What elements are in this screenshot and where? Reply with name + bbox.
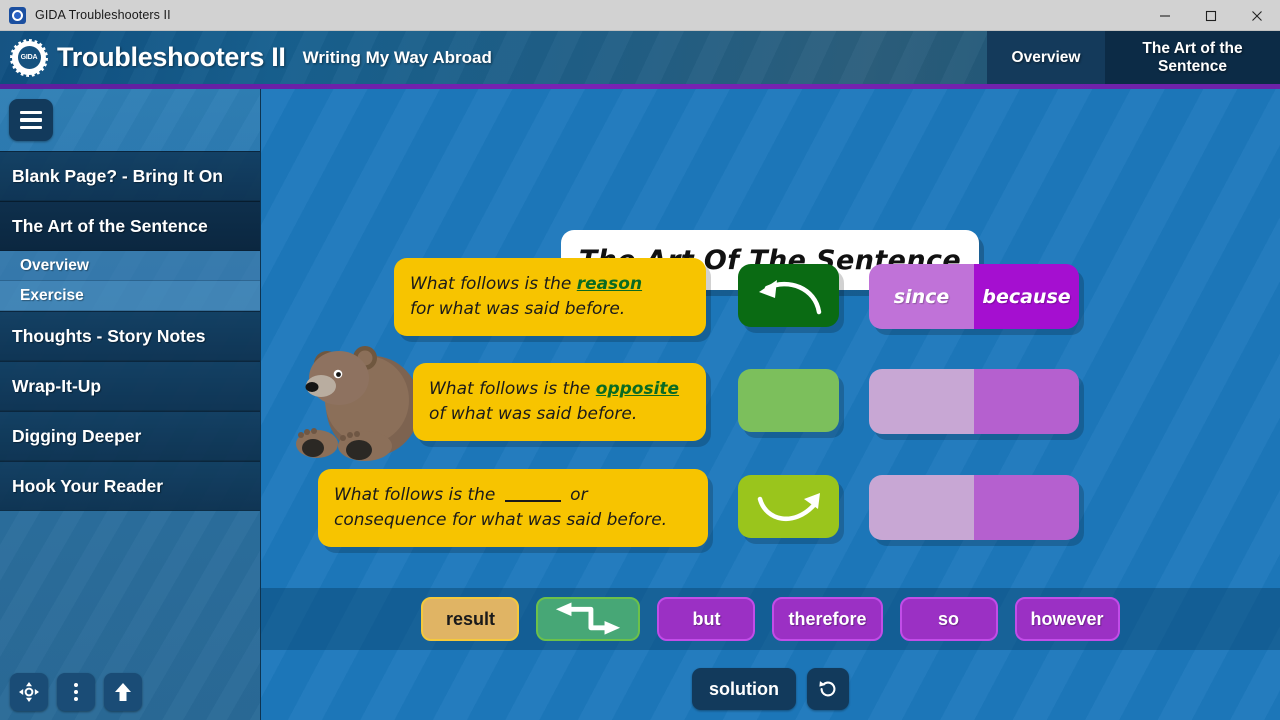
statement-card-3[interactable]: What follows is the or consequence for w… — [318, 469, 708, 547]
statement-text: What follows is the — [334, 485, 501, 505]
window-controls — [1142, 0, 1280, 31]
statement-line-3a: What follows is the or — [334, 483, 692, 508]
sidebar-item-thoughts-story-notes[interactable]: Thoughts - Story Notes — [0, 311, 260, 361]
sidebar-header — [0, 89, 260, 151]
connector-pair-1[interactable]: since because — [869, 264, 1079, 329]
connector-word-left[interactable] — [869, 475, 974, 540]
statement-line-3b: consequence for what was said before. — [334, 508, 692, 533]
statement-text: What follows is the — [429, 379, 596, 399]
curved-arrow-right-icon — [752, 485, 826, 529]
sidebar-item-wrap-it-up[interactable]: Wrap-It-Up — [0, 361, 260, 411]
maximize-icon[interactable] — [1188, 0, 1234, 31]
arrow-slot-3[interactable] — [738, 475, 839, 538]
sidebar-item-blank-page[interactable]: Blank Page? - Bring It On — [0, 151, 260, 201]
double-zigzag-arrow-icon — [552, 601, 624, 637]
more-options-icon[interactable] — [57, 673, 95, 711]
app-header: GIDA Troubleshooters II Writing My Way A… — [0, 31, 1280, 84]
course-subtitle: Writing My Way Abroad — [303, 48, 492, 68]
sidebar-subitem-overview[interactable]: Overview — [0, 251, 260, 281]
app-logo-icon — [9, 7, 26, 24]
sidebar-subitem-exercise[interactable]: Exercise — [0, 281, 260, 311]
logo-text: GIDA — [18, 46, 41, 69]
move-pan-icon[interactable] — [10, 673, 48, 711]
sidebar-item-hook-your-reader[interactable]: Hook Your Reader — [0, 461, 260, 511]
arrow-slot-1[interactable] — [738, 264, 839, 327]
gida-gear-logo-icon: GIDA — [12, 41, 46, 75]
arrow-chip-double-zigzag[interactable] — [536, 597, 640, 641]
word-chip-however[interactable]: however — [1015, 597, 1120, 641]
connector-word-right[interactable] — [974, 369, 1079, 434]
tab-overview[interactable]: Overview — [987, 31, 1105, 84]
exercise-stage: The Art Of The Sentence What follows is … — [261, 89, 1280, 720]
blank-drop-slot[interactable] — [505, 500, 561, 502]
statement-card-2[interactable]: What follows is the opposite of what was… — [413, 363, 706, 441]
tab-the-art-of-the-sentence[interactable]: The Art of the Sentence — [1105, 31, 1280, 84]
statement-line-1b: for what was said before. — [410, 297, 690, 322]
statement-line-2b: of what was said before. — [429, 402, 690, 427]
app-body: Blank Page? - Bring It On The Art of the… — [0, 89, 1280, 720]
connector-pair-2[interactable] — [869, 369, 1079, 434]
header-tabs: Overview The Art of the Sentence — [987, 31, 1280, 84]
statement-text: What follows is the — [410, 274, 577, 294]
connector-pair-3[interactable] — [869, 475, 1079, 540]
word-chip-but[interactable]: but — [657, 597, 755, 641]
connector-word-left[interactable]: since — [869, 264, 974, 329]
exercise-footer: solution — [261, 668, 1280, 710]
statement-text-after: or — [565, 485, 588, 505]
statement-card-1[interactable]: What follows is the reason for what was … — [394, 258, 706, 336]
brand-title: Troubleshooters II — [57, 42, 286, 73]
sidebar-tools — [10, 673, 142, 711]
word-chip-therefore[interactable]: therefore — [772, 597, 882, 641]
hamburger-icon[interactable] — [9, 99, 53, 141]
reset-icon — [817, 678, 839, 700]
statement-line-2a: What follows is the opposite — [429, 377, 690, 402]
connector-word-right[interactable] — [974, 475, 1079, 540]
window-title: GIDA Troubleshooters II — [35, 8, 171, 22]
word-chip-so[interactable]: so — [900, 597, 998, 641]
sidebar-item-the-art-of-the-sentence[interactable]: The Art of the Sentence — [0, 201, 260, 251]
bear-illustration — [281, 334, 431, 469]
solution-button[interactable]: solution — [692, 668, 796, 710]
connector-word-right[interactable]: because — [974, 264, 1079, 329]
arrow-up-icon[interactable] — [104, 673, 142, 711]
sidebar-item-digging-deeper[interactable]: Digging Deeper — [0, 411, 260, 461]
reset-button[interactable] — [807, 668, 849, 710]
statement-highlight: reason — [577, 274, 642, 294]
arrow-slot-2[interactable] — [738, 369, 839, 432]
connector-word-left[interactable] — [869, 369, 974, 434]
window-titlebar: GIDA Troubleshooters II — [0, 0, 1280, 31]
word-chip-result[interactable]: result — [421, 597, 519, 641]
close-icon[interactable] — [1234, 0, 1280, 31]
statement-highlight: opposite — [596, 379, 679, 399]
statement-line-1a: What follows is the reason — [410, 272, 690, 297]
curved-arrow-left-icon — [753, 274, 825, 318]
minimize-icon[interactable] — [1142, 0, 1188, 31]
sidebar: Blank Page? - Bring It On The Art of the… — [0, 89, 261, 720]
sidebar-nav: Blank Page? - Bring It On The Art of the… — [0, 151, 260, 511]
word-bank: result but therefore so however — [261, 588, 1280, 650]
